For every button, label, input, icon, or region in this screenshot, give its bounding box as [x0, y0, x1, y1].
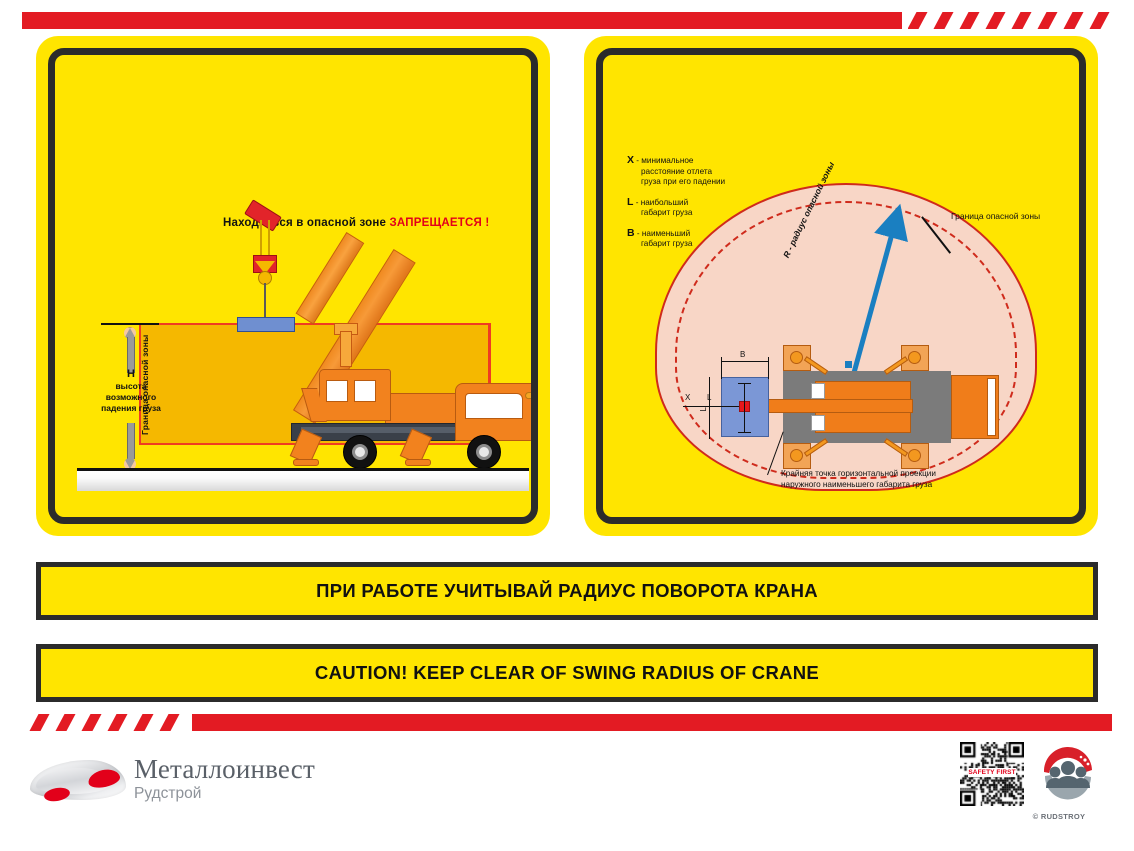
caption-line-1: Крайняя точка горизонтальной проекции [781, 469, 936, 478]
height-caption-3: падения груза [101, 403, 161, 413]
worker-figure [535, 351, 538, 469]
plan-boom [765, 399, 913, 413]
panel-right-inner: X - минимальное расстояние отлета груза … [596, 48, 1086, 524]
dim-b-tick-r [768, 357, 769, 379]
operator-cabin [319, 369, 391, 421]
qr-overlay-label: SAFETY FIRST [968, 768, 1016, 777]
metalloinvest-logo-mark [30, 752, 126, 804]
banner-english: CAUTION! KEEP CLEAR OF SWING RADIUS OF C… [36, 644, 1098, 702]
panel-left-side-view: Находиться в опасной зоне ЗАПРЕЩАЕТСЯ ! … [36, 36, 550, 536]
cabin-window-left [326, 380, 348, 402]
load-axis-cap-top [738, 383, 751, 384]
crane-plan-drawing: B X L L [711, 349, 1011, 465]
up-arrow-icon [124, 327, 136, 373]
outrigger-foot-right [405, 459, 431, 466]
wheel-rear [467, 435, 501, 469]
ground-band [77, 471, 529, 491]
bottom-rule-stripes [20, 714, 200, 731]
dim-b-label: B [740, 350, 745, 359]
company-wordmark: Металлоинвест Рудстрой [134, 754, 315, 803]
copyright-text: © RUDSTROY [1004, 812, 1114, 821]
dim-l-side-label: L [699, 407, 708, 411]
legend-item-b: B - наименьший габарит груза [627, 228, 807, 250]
load-axis-cap-bot [738, 432, 751, 433]
company-subname: Рудстрой [134, 785, 315, 803]
banner-english-text: CAUTION! KEEP CLEAR OF SWING RADIUS OF C… [315, 662, 819, 684]
load-axis-v [744, 383, 745, 433]
legend-text-x-cont2: груза при его падении [627, 177, 807, 188]
legend-text-b-cont1: габарит груза [627, 239, 807, 250]
top-rule-stripes [908, 12, 1114, 29]
banner-russian: ПРИ РАБОТЕ УЧИТЫВАЙ РАДИУС ПОВОРОТА КРАН… [36, 562, 1098, 620]
plan-block-lower [811, 415, 825, 431]
legend-item-x: X - минимальное расстояние отлета груза … [627, 155, 807, 188]
dim-x-label: X [685, 393, 690, 402]
legend-text-b: - наименьший [635, 229, 691, 238]
hoist-cables [258, 220, 272, 260]
dim-b-tick-l [721, 357, 722, 379]
legend-item-l: L - наибольший габарит груза [627, 197, 807, 219]
panel-left-inner: Находиться в опасной зоне ЗАПРЕЩАЕТСЯ ! … [48, 48, 538, 524]
dim-l-side-line [709, 377, 710, 439]
bottom-rule-solid [192, 714, 1112, 731]
legend-text-x-cont1: расстояние отлета [627, 167, 807, 178]
legend-text-l: - наибольший [633, 198, 688, 207]
plan-rear-unit [951, 375, 999, 439]
legend-text-l-cont1: габарит груза [627, 208, 807, 219]
top-red-rule [22, 12, 1114, 29]
cabin-window-right [354, 380, 376, 402]
legend-symbol-b: B [627, 227, 635, 239]
crane-plan-view-illustration: X - минимальное расстояние отлета груза … [603, 55, 1079, 517]
extreme-point-caption: Крайняя точка горизонтальной проекции на… [781, 469, 1031, 490]
legend: X - минимальное расстояние отлета груза … [627, 155, 807, 259]
crane-side-view-illustration: Находиться в опасной зоне ЗАПРЕЩАЕТСЯ ! … [55, 55, 531, 517]
warning-emphasis: ЗАПРЕЩАЕТСЯ ! [390, 217, 490, 229]
bottom-red-rule [20, 714, 1112, 731]
dimension-top-tick [101, 323, 159, 325]
dim-b-line [721, 361, 769, 362]
fall-height-label: H высота возможного падения груза [93, 369, 169, 414]
height-symbol: H [93, 369, 169, 380]
panel-right-plan-view: X - минимальное расстояние отлета груза … [584, 36, 1098, 536]
banner-russian-text: ПРИ РАБОТЕ УЧИТЫВАЙ РАДИУС ПОВОРОТА КРАН… [316, 580, 818, 602]
height-caption-1: высота [115, 381, 146, 391]
suspended-load [237, 317, 295, 332]
fall-height-dimension: H высота возможного падения груза [99, 323, 163, 473]
safety-poster: Находиться в опасной зоне ЗАПРЕЩАЕТСЯ ! … [0, 0, 1134, 851]
truck-window [465, 393, 523, 419]
legend-text-x: - минимальное [634, 156, 693, 165]
caption-line-2: наружного наименьшего габарита груза [781, 480, 932, 489]
hook-line [264, 283, 266, 319]
top-rule-solid [22, 12, 902, 29]
plan-block-upper [811, 383, 825, 399]
legend-symbol-x: X [627, 154, 634, 166]
height-caption-2: возможного [106, 392, 156, 402]
wheel-front [343, 435, 377, 469]
crane-mast [340, 331, 352, 367]
company-name: Металлоинвест [134, 754, 315, 784]
warning-prefix: Находиться в опасной зоне [223, 217, 390, 229]
outrigger-foot-left [293, 459, 319, 466]
zone-boundary-callout-label: Граница опасной зоны [951, 211, 1040, 221]
down-arrow-icon [124, 423, 136, 469]
safety-people-in-hands-icon [1036, 742, 1100, 806]
